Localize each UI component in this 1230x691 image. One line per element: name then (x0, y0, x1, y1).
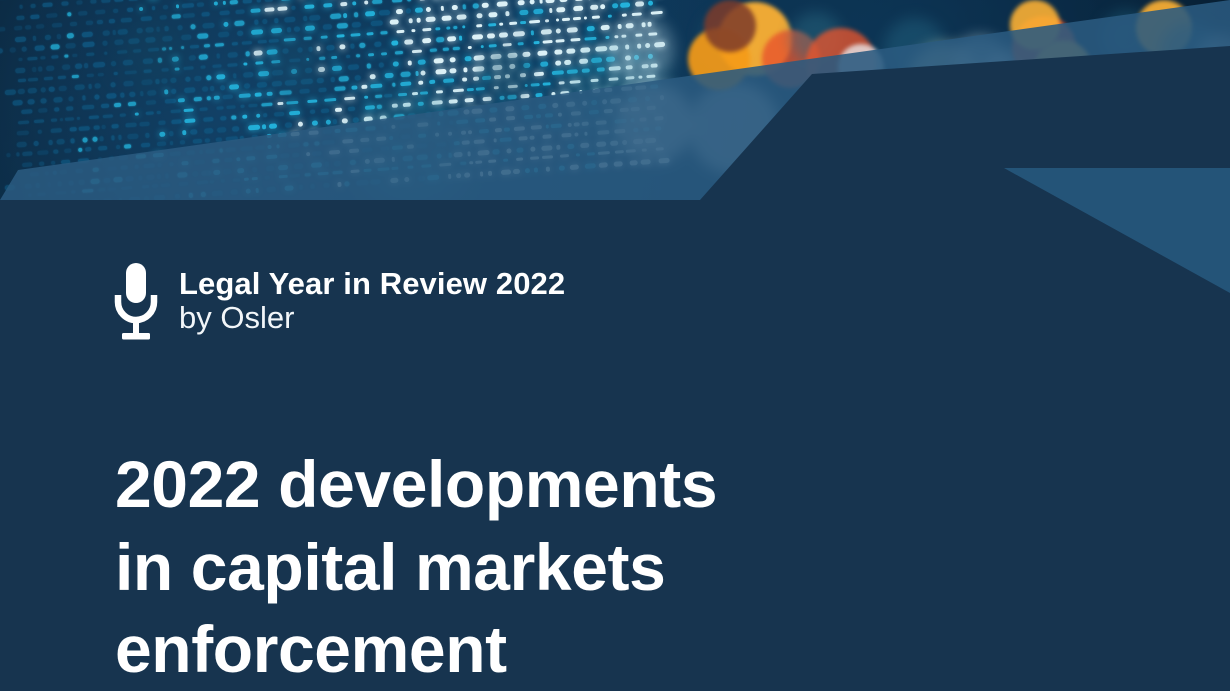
microphone-icon (113, 261, 159, 347)
page-title-line-1: 2022 developments (115, 443, 717, 526)
podcast-title-slide: Legal Year in Review 2022 by Osler 2022 … (0, 0, 1230, 691)
page-title-line-3: enforcement (115, 608, 717, 691)
page-title-line-2: in capital markets (115, 526, 717, 609)
podcast-publisher: by Osler (179, 300, 565, 337)
podcast-brand-block: Legal Year in Review 2022 by Osler (113, 259, 565, 347)
page-title: 2022 developmentsin capital marketsenfor… (115, 443, 717, 691)
podcast-series-title: Legal Year in Review 2022 (179, 267, 565, 300)
